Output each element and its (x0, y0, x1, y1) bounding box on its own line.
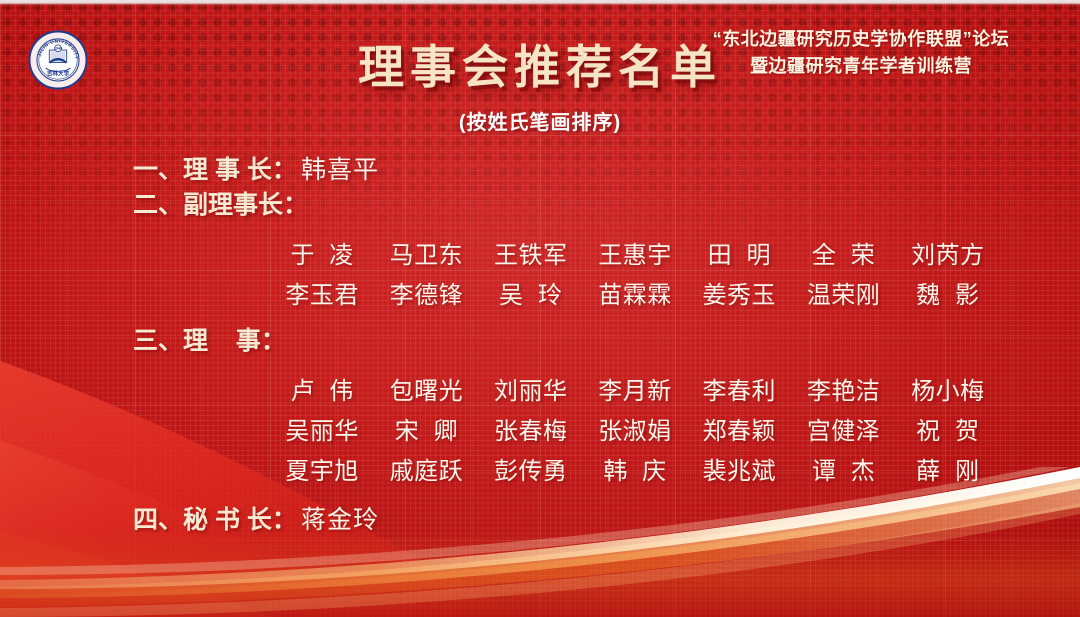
section-secretary-general: 四、 秘 书 长 ： 蒋金玲 (0, 508, 1080, 533)
name-cell: 郑春颖 (687, 412, 791, 452)
section-directors-index: 三、 (133, 329, 183, 354)
section-secretary-general-index: 四、 (133, 508, 183, 533)
slide-root: 1946 吉林大学 JILIN UNIVERSITY · CHINA “东北边疆… (0, 0, 1080, 617)
section-chairman-colon: ： (272, 158, 297, 183)
name-cell: 王惠宇 (583, 236, 687, 276)
section-directors: 三、 理 事 ： 卢 伟 包曙光 刘丽华 李月新 李春利 李艳洁 杨小梅 吴丽华… (0, 329, 1080, 492)
name-cell: 谭 杰 (791, 452, 895, 492)
name-cell: 李玉君 (270, 276, 374, 316)
name-cell: 刘芮方 (896, 236, 1000, 276)
name-cell: 刘丽华 (479, 372, 583, 412)
page-title: 理事会推荐名单 (0, 42, 1080, 94)
name-cell: 祝 贺 (896, 412, 1000, 452)
name-cell: 张春梅 (479, 412, 583, 452)
section-secretary-general-colon: ： (272, 508, 297, 533)
name-cell: 彭传勇 (479, 452, 583, 492)
section-directors-colon: ： (261, 329, 286, 354)
section-chairman-index: 一、 (133, 158, 183, 183)
name-cell: 戚庭跃 (374, 452, 478, 492)
name-cell: 李德锋 (374, 276, 478, 316)
name-cell: 李春利 (687, 372, 791, 412)
name-cell: 杨小梅 (896, 372, 1000, 412)
section-vice-chairmen-colon: ： (283, 193, 308, 218)
name-cell: 王铁军 (479, 236, 583, 276)
name-cell: 于 凌 (270, 236, 374, 276)
name-cell: 李艳洁 (791, 372, 895, 412)
section-vice-chairmen-label: 副理事长 (183, 193, 283, 218)
name-cell: 薛 刚 (896, 452, 1000, 492)
section-chairman-label: 理 事 长 (183, 158, 272, 183)
name-cell: 卢 伟 (270, 372, 374, 412)
section-chairman: 一、 理 事 长 ： 韩喜平 (0, 158, 1080, 183)
section-chairman-heading: 一、 理 事 长 ： 韩喜平 (0, 158, 1080, 183)
section-chairman-name: 韩喜平 (301, 158, 379, 183)
spacer-2 (0, 218, 1080, 236)
name-cell: 裴兆斌 (687, 452, 791, 492)
name-cell: 包曙光 (374, 372, 478, 412)
name-cell: 吴丽华 (270, 412, 374, 452)
name-cell: 宫健泽 (791, 412, 895, 452)
vice-chairmen-row-2: 李玉君 李德锋 吴 玲 苗霖霖 姜秀玉 温荣刚 魏 影 (270, 276, 1000, 316)
spacer-4 (0, 354, 1080, 372)
name-cell: 宋 卿 (374, 412, 478, 452)
name-cell: 田 明 (687, 236, 791, 276)
directors-row-1: 卢 伟 包曙光 刘丽华 李月新 李春利 李艳洁 杨小梅 (270, 372, 1000, 412)
title-block: 理事会推荐名单 (按姓氏笔画排序) (0, 42, 1080, 135)
name-cell: 吴 玲 (479, 276, 583, 316)
name-cell: 温荣刚 (791, 276, 895, 316)
section-secretary-general-name: 蒋金玲 (301, 508, 379, 533)
section-directors-label: 理 事 (183, 329, 261, 354)
page-subtitle: (按姓氏笔画排序) (0, 106, 1080, 135)
name-cell: 张淑娟 (583, 412, 687, 452)
section-secretary-general-heading: 四、 秘 书 长 ： 蒋金玲 (0, 508, 1080, 533)
name-cell: 姜秀玉 (687, 276, 791, 316)
directors-row-3: 夏宇旭 戚庭跃 彭传勇 韩 庆 裴兆斌 谭 杰 薛 刚 (270, 452, 1000, 492)
name-cell: 李月新 (583, 372, 687, 412)
name-cell: 全 荣 (791, 236, 895, 276)
name-cell: 韩 庆 (583, 452, 687, 492)
name-cell: 苗霖霖 (583, 276, 687, 316)
section-directors-heading: 三、 理 事 ： (0, 329, 1080, 354)
section-vice-chairmen-heading: 二、 副理事长 ： (0, 193, 1080, 218)
roster-list: 一、 理 事 长 ： 韩喜平 二、 副理事长 ： 于 凌 马卫东 王铁军 王惠宇… (0, 158, 1080, 533)
vice-chairmen-row-1: 于 凌 马卫东 王铁军 王惠宇 田 明 全 荣 刘芮方 (270, 236, 1000, 276)
section-vice-chairmen-index: 二、 (133, 193, 183, 218)
name-cell: 魏 影 (896, 276, 1000, 316)
section-secretary-general-label: 秘 书 长 (183, 508, 272, 533)
section-vice-chairmen: 二、 副理事长 ： 于 凌 马卫东 王铁军 王惠宇 田 明 全 荣 刘芮方 李玉… (0, 193, 1080, 316)
name-cell: 马卫东 (374, 236, 478, 276)
name-cell: 夏宇旭 (270, 452, 374, 492)
directors-row-2: 吴丽华 宋 卿 张春梅 张淑娟 郑春颖 宫健泽 祝 贺 (270, 412, 1000, 452)
